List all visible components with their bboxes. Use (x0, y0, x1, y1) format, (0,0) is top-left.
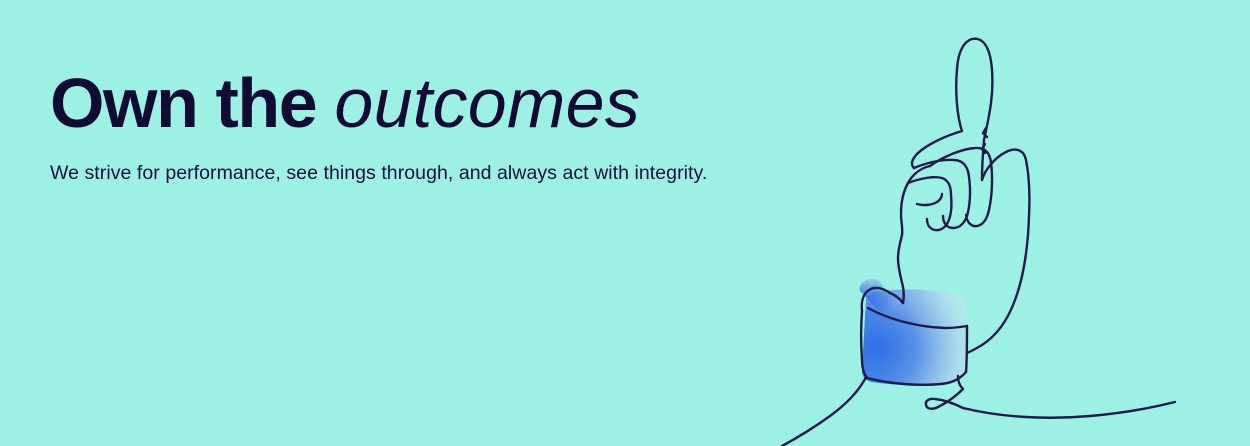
middle-finger-curl (930, 148, 992, 226)
cuff-fold-left (862, 288, 890, 311)
hand-left-outline (898, 166, 930, 303)
cuff-bottom-band (867, 372, 966, 385)
cuff-gradient-fill (855, 275, 980, 388)
hero-banner: Own the outcomes We strive for performan… (0, 0, 1250, 446)
cuff-right-side (966, 326, 967, 372)
index-finger-lower-path (982, 140, 984, 180)
sleeve-seam-loop (926, 389, 963, 409)
hero-text-block: Own the outcomes We strive for performan… (50, 68, 870, 186)
cuff-top-band (868, 308, 967, 328)
fist-top-sweep (912, 131, 962, 168)
index-finger-path (956, 39, 992, 140)
headline-italic-part: outcomes (334, 64, 640, 142)
page-subtitle: We strive for performance, see things th… (50, 138, 870, 186)
forearm-left-line (782, 377, 866, 446)
cuff-button-notch (958, 376, 963, 389)
finger-knuckle-crease-1 (983, 128, 987, 137)
cuff-left-side (861, 311, 867, 378)
pinky-finger-curl (908, 177, 951, 230)
wrist-left-edge (890, 293, 903, 303)
headline-bold-part: Own the (50, 64, 316, 142)
finger-knuckle-crease-2 (982, 144, 985, 153)
headline-space (316, 64, 334, 142)
sleeve-long-line (963, 402, 1175, 418)
hand-right-outline (982, 150, 1029, 345)
wrist-right-edge (967, 345, 982, 353)
thumb-crease (917, 194, 942, 205)
page-title: Own the outcomes (50, 68, 870, 138)
ring-finger-curl (914, 160, 970, 228)
